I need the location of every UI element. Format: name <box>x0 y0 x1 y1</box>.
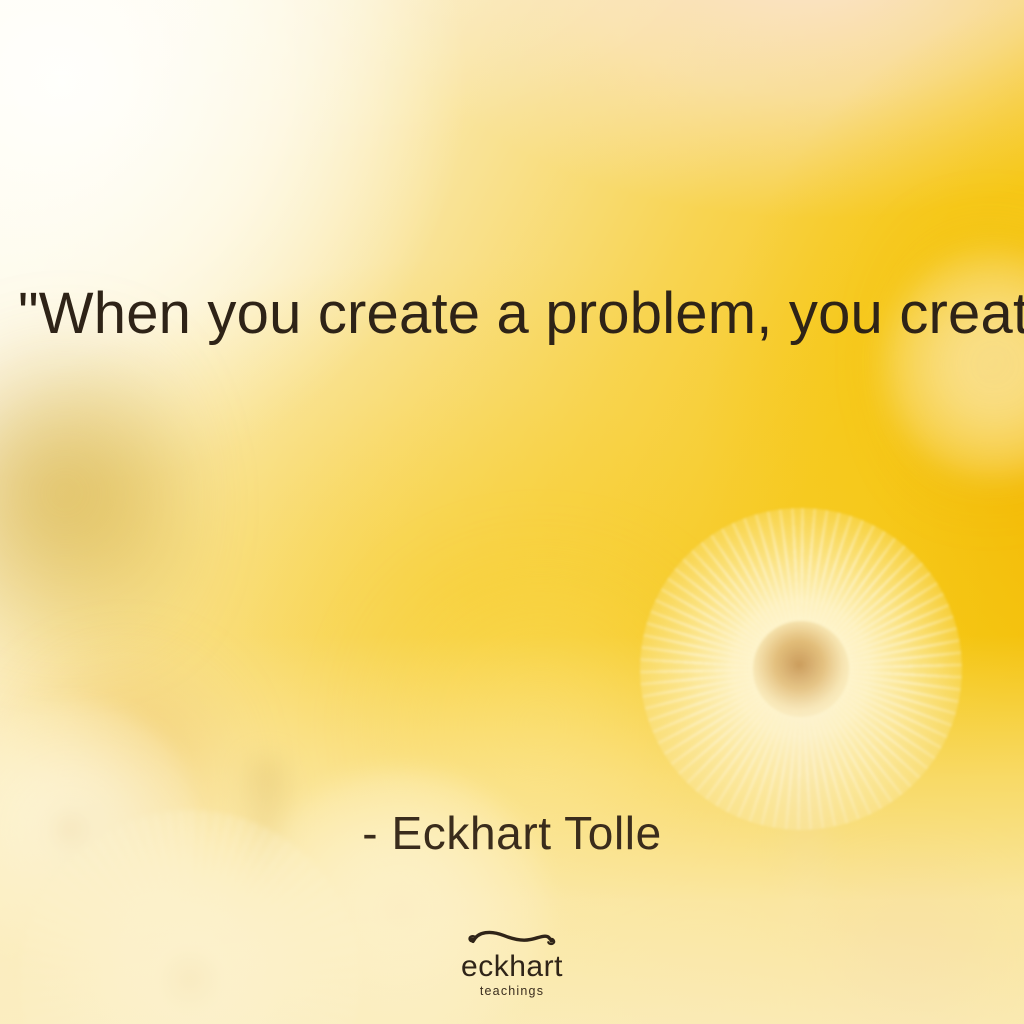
eckhart-teachings-logo: eckhart teachings <box>432 928 592 998</box>
quote-line-1: "When you create a problem, you <box>18 272 883 356</box>
quote-line-2: create pain. All it takes is a simple <box>899 272 1024 356</box>
content-overlay: "When you create a problem, you create p… <box>0 0 1024 1024</box>
quote-text: "When you create a problem, you create p… <box>18 272 1006 356</box>
swirl-flourish-icon <box>464 928 560 950</box>
quote-attribution: - Eckhart Tolle <box>0 806 1024 860</box>
logo-wordmark: eckhart <box>432 952 592 982</box>
quote-card: "When you create a problem, you create p… <box>0 0 1024 1024</box>
logo-tagline: teachings <box>432 985 592 998</box>
